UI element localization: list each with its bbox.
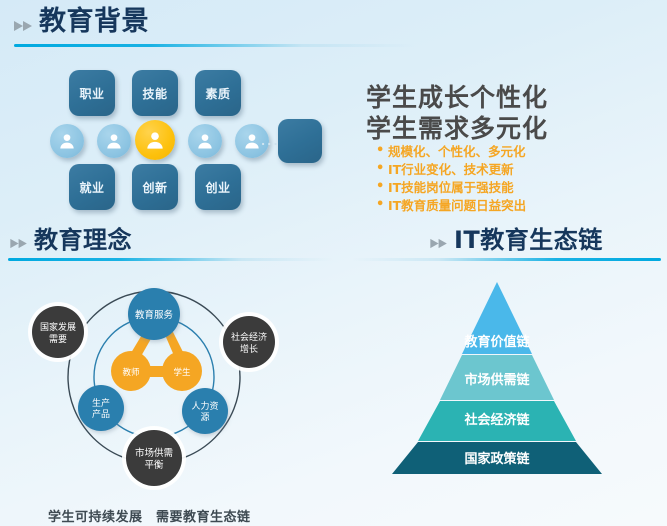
outer-node-label: 平衡 xyxy=(144,459,164,471)
person-icon xyxy=(104,131,124,151)
core-node-label: 教师 xyxy=(122,367,140,378)
outer-node-label: 市场供需 xyxy=(135,447,173,459)
core-node-label: 学生 xyxy=(173,367,191,378)
avatar-4[interactable] xyxy=(188,124,222,158)
avatar-1[interactable] xyxy=(50,124,84,158)
tile-jineng[interactable]: 技能 xyxy=(132,70,178,116)
double-triangle-icon xyxy=(14,20,34,32)
pyramid-layer-4-label: 国家政策链 xyxy=(464,451,530,467)
section-rule-chain xyxy=(352,258,661,261)
section-rule-background xyxy=(14,44,414,47)
tile-chuangye[interactable]: 创业 xyxy=(195,164,241,210)
section-header-chain: IT教育生态链 xyxy=(430,228,603,252)
bullet-item: IT技能岗位属于强技能 xyxy=(376,180,526,196)
tile-suzhi[interactable]: 素质 xyxy=(195,70,241,116)
person-icon xyxy=(195,131,215,151)
outer-node-label: 社会经济 xyxy=(231,331,267,343)
section-title: 教育背景 xyxy=(39,8,149,35)
person-icon xyxy=(57,131,77,151)
bullet-item: 规模化、个性化、多元化 xyxy=(376,144,526,160)
bullet-item: IT教育质量问题日益突出 xyxy=(376,198,526,214)
double-triangle-icon xyxy=(430,238,449,249)
headline-line-2: 学生需求多元化 xyxy=(366,109,548,145)
tile-zhiye[interactable]: 职业 xyxy=(69,70,115,116)
outer-node-label: 增长 xyxy=(240,343,258,355)
person-icon xyxy=(242,131,262,151)
person-icon xyxy=(144,129,167,152)
pyramid-layer-2-label: 市场供需链 xyxy=(464,372,530,388)
outer-node-label: 需要 xyxy=(49,334,67,345)
tile-blank[interactable] xyxy=(278,119,322,163)
inner-node-label: 源 xyxy=(200,412,209,423)
inner-node-label: 产品 xyxy=(92,408,110,420)
slide-canvas: 教育背景 职业 技能 素质 .... 就业 创新 创业 学生成长个性化 学生需求… xyxy=(0,0,667,526)
tile-chuangxin[interactable]: 创新 xyxy=(132,164,178,210)
section-header-idea: 教育理念 xyxy=(10,228,132,252)
outer-node-label: 国家发展 xyxy=(40,321,76,333)
bullet-item: IT行业变化、技术更新 xyxy=(376,162,526,178)
avatar-3-highlighted[interactable] xyxy=(135,120,175,160)
section-rule-idea xyxy=(8,258,333,261)
double-triangle-icon xyxy=(10,238,29,249)
inner-node-label: 生产 xyxy=(92,397,110,409)
headline-bullet-list: 规模化、个性化、多元化 IT行业变化、技术更新 IT技能岗位属于强技能 IT教育… xyxy=(376,144,526,216)
education-ecosystem-diagram: 教育服务 人力资 源 生产 产品 教师 学生 国家发展 需要 xyxy=(6,272,322,490)
tile-jiuye[interactable]: 就业 xyxy=(69,164,115,210)
section-header-background: 教育背景 xyxy=(14,8,149,35)
ecosystem-pyramid: 教育价值链 市场供需链 社会经济链 国家政策链 xyxy=(336,278,658,488)
inner-node-label: 教育服务 xyxy=(135,309,174,321)
section-title: 教育理念 xyxy=(34,228,132,252)
inner-node-label: 人力资 xyxy=(191,400,218,412)
avatar-2[interactable] xyxy=(97,124,131,158)
pyramid-layer-3-label: 社会经济链 xyxy=(463,412,530,428)
footer-caption: 学生可持续发展 需要教育生态链 xyxy=(48,506,251,525)
section-title: IT教育生态链 xyxy=(454,228,603,252)
pyramid-layer-1-label: 教育价值链 xyxy=(463,334,530,350)
